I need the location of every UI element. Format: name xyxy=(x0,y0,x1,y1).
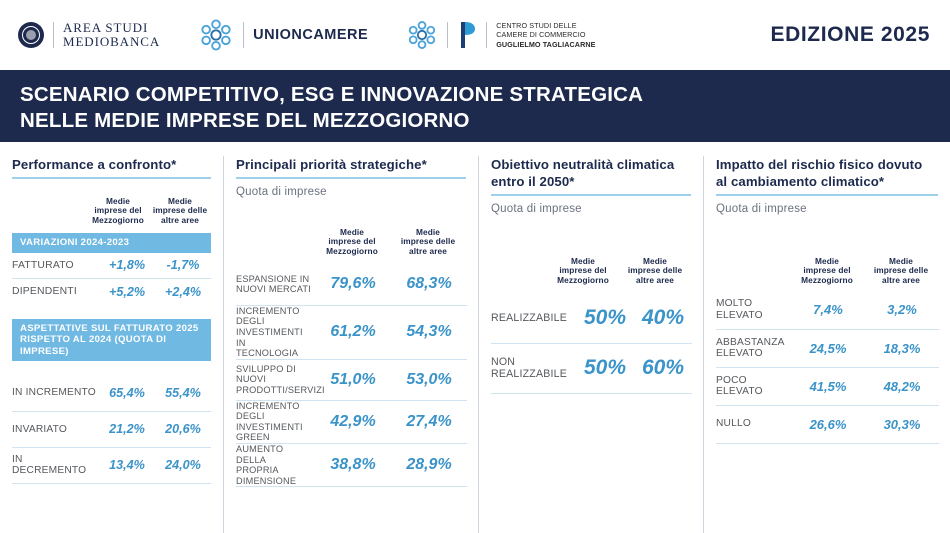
label-line: PRODOTTI/SERVIZI xyxy=(236,385,315,396)
divider xyxy=(53,22,54,48)
label-line: GREEN xyxy=(236,432,315,443)
header-line: altre aree xyxy=(619,276,691,285)
label-line: DIMENSIONE xyxy=(236,476,315,487)
divider xyxy=(243,22,244,48)
title-line-2: entro il 2050* xyxy=(491,173,691,190)
column-headers-neutralita: Medie imprese del Mezzogiorno Medie impr… xyxy=(491,257,691,285)
label-line: ABBASTANZA xyxy=(716,337,791,349)
tagliacarne-wordmark: CENTRO STUDI DELLE CAMERE DI COMMERCIO G… xyxy=(496,21,595,49)
label-line: TECNOLOGIA xyxy=(236,348,315,359)
label-line: AUMENTO DELLA xyxy=(236,444,315,465)
logo-unioncamere: UNIONCAMERE xyxy=(198,18,368,52)
value-altre: -1,7% xyxy=(155,253,211,279)
header-line: Mezzogiorno xyxy=(314,247,390,256)
header-altre-aree: Medie imprese delle altre aree xyxy=(390,228,466,256)
value-mezzogiorno: 50% xyxy=(576,293,634,343)
table-row: ABBASTANZA ELEVATO 24,5% 18,3% xyxy=(716,329,939,367)
label-line: INVESTIMENTI IN xyxy=(236,327,315,348)
title-line-1: Impatto del rischio fisico dovuto xyxy=(716,156,938,173)
table-row: MOLTO ELEVATO 7,4% 3,2% xyxy=(716,291,939,329)
spacer xyxy=(12,484,211,533)
value-altre: 3,2% xyxy=(865,291,939,329)
panel-subtitle-priorita: Quota di imprese xyxy=(236,186,466,198)
table-aspettative: IN INCREMENTO 65,4% 55,4% INVARIATO 21,2… xyxy=(12,375,211,484)
row-label: IN INCREMENTO xyxy=(12,375,99,411)
value-altre: 48,2% xyxy=(865,367,939,405)
value-altre: 20,6% xyxy=(155,411,211,447)
spacer xyxy=(716,444,938,533)
mediobanca-wordmark: AREA STUDI MEDIOBANCA xyxy=(63,21,160,50)
panel-neutralita-climatica: Obiettivo neutralità climatica entro il … xyxy=(478,156,703,533)
unioncamere-wordmark: UNIONCAMERE xyxy=(253,27,368,43)
value-mezzogiorno: 7,4% xyxy=(791,291,865,329)
divider xyxy=(486,22,487,48)
table-row: INCREMENTO DEGLI INVESTIMENTI IN TECNOLO… xyxy=(236,305,467,359)
value-altre: 55,4% xyxy=(155,375,211,411)
spacer xyxy=(236,488,466,533)
row-label: INCREMENTO DEGLI INVESTIMENTI IN TECNOLO… xyxy=(236,305,315,359)
label-line: DEGLI xyxy=(236,411,315,422)
header-line: Mezzogiorno xyxy=(547,276,619,285)
header-line: altre aree xyxy=(864,276,938,285)
table-row: REALIZZABILE 50% 40% xyxy=(491,293,692,343)
value-mezzogiorno: 79,6% xyxy=(315,264,391,305)
row-label: DIPENDENTI xyxy=(12,279,99,305)
label-line: ELEVATO xyxy=(716,310,791,322)
panel-title-priorita: Principali priorità strategiche* xyxy=(236,156,466,179)
label-line: ESPANSIONE IN xyxy=(236,274,315,285)
table-variazioni: FATTURATO +1,8% -1,7% DIPENDENTI +5,2% +… xyxy=(12,253,211,305)
table-row: DIPENDENTI +5,2% +2,4% xyxy=(12,279,211,305)
table-row: SVILUPPO DI NUOVI PRODOTTI/SERVIZI 51,0%… xyxy=(236,359,467,400)
panel-performance: Performance a confronto* Medie imprese d… xyxy=(0,156,223,533)
header-mezzogiorno: Medie imprese del Mezzogiorno xyxy=(547,257,619,285)
section-banner-aspettative: ASPETTATIVE SUL FATTURATO 2025 RISPETTO … xyxy=(12,319,211,362)
panel-subtitle-rischio: Quota di imprese xyxy=(716,203,938,215)
header-line: altre aree xyxy=(390,247,466,256)
value-mezzogiorno: 26,6% xyxy=(791,405,865,443)
column-headers-performance: Medie imprese del Mezzogiorno Medie impr… xyxy=(12,197,211,225)
value-mezzogiorno: 24,5% xyxy=(791,329,865,367)
row-label: INVARIATO xyxy=(12,411,99,447)
table-rischio: MOLTO ELEVATO 7,4% 3,2% ABBASTANZA ELEVA… xyxy=(716,291,939,444)
mediobanca-line2: MEDIOBANCA xyxy=(63,35,160,50)
label-line: ELEVATO xyxy=(716,386,791,398)
section-banner-variazioni: VARIAZIONI 2024-2023 xyxy=(12,233,211,253)
label-line: POCO xyxy=(716,375,791,387)
panel-title-rischio: Impatto del rischio fisico dovuto al cam… xyxy=(716,156,938,196)
header-mezzogiorno: Medie imprese del Mezzogiorno xyxy=(314,228,390,256)
value-mezzogiorno: 13,4% xyxy=(99,447,155,483)
table-row: ESPANSIONE IN NUOVI MERCATI 79,6% 68,3% xyxy=(236,264,467,305)
tagliacarne-line2: CAMERE DI COMMERCIO xyxy=(496,30,595,39)
row-label: NULLO xyxy=(716,405,791,443)
row-label: ESPANSIONE IN NUOVI MERCATI xyxy=(236,264,315,305)
label-line: PROPRIA xyxy=(236,465,315,476)
value-altre: 53,0% xyxy=(391,359,467,400)
header-mezzogiorno: Medie imprese del Mezzogiorno xyxy=(87,197,149,225)
row-label: MOLTO ELEVATO xyxy=(716,291,791,329)
value-mezzogiorno: 65,4% xyxy=(99,375,155,411)
tagliacarne-line1: CENTRO STUDI DELLE xyxy=(496,21,595,30)
value-mezzogiorno: 50% xyxy=(576,343,634,393)
panel-rischio-fisico: Impatto del rischio fisico dovuto al cam… xyxy=(703,156,950,533)
row-label: NON REALIZZABILE xyxy=(491,343,576,393)
value-altre: +2,4% xyxy=(155,279,211,305)
label-line: INCREMENTO DEGLI xyxy=(236,306,315,327)
unioncamere-knot-icon xyxy=(198,18,234,52)
row-label: IN DECREMENTO xyxy=(12,447,99,483)
table-row: AUMENTO DELLA PROPRIA DIMENSIONE 38,8% 2… xyxy=(236,444,467,487)
mediobanca-seal-icon xyxy=(18,22,44,48)
title-banner: SCENARIO COMPETITIVO, ESG E INNOVAZIONE … xyxy=(0,70,950,142)
row-label: ABBASTANZA ELEVATO xyxy=(716,329,791,367)
divider xyxy=(447,22,448,48)
label-line: REALIZZABILE xyxy=(491,312,576,324)
row-label: INCREMENTO DEGLI INVESTIMENTI GREEN xyxy=(236,400,315,443)
value-mezzogiorno: 21,2% xyxy=(99,411,155,447)
panel-subtitle-neutralita: Quota di imprese xyxy=(491,203,691,215)
logo-bar: AREA STUDI MEDIOBANCA UNIONCAMERE xyxy=(0,0,950,70)
header-altre-aree: Medie imprese delle altre aree xyxy=(619,257,691,285)
edition-label: EDIZIONE 2025 xyxy=(770,23,930,47)
panels-container: Performance a confronto* Medie imprese d… xyxy=(0,142,950,533)
table-row: POCO ELEVATO 41,5% 48,2% xyxy=(716,367,939,405)
header-line: Mezzogiorno xyxy=(87,216,149,225)
table-priorita: ESPANSIONE IN NUOVI MERCATI 79,6% 68,3% … xyxy=(236,264,467,488)
table-row: INVARIATO 21,2% 20,6% xyxy=(12,411,211,447)
table-row: IN DECREMENTO 13,4% 24,0% xyxy=(12,447,211,483)
label-line: INCREMENTO xyxy=(236,401,315,412)
value-mezzogiorno: 51,0% xyxy=(315,359,391,400)
row-label: REALIZZABILE xyxy=(491,293,576,343)
value-altre: 18,3% xyxy=(865,329,939,367)
value-mezzogiorno: +1,8% xyxy=(99,253,155,279)
header-altre-aree: Medie imprese delle altre aree xyxy=(864,257,938,285)
table-row: INCREMENTO DEGLI INVESTIMENTI GREEN 42,9… xyxy=(236,400,467,443)
value-mezzogiorno: 61,2% xyxy=(315,305,391,359)
panel-title-performance: Performance a confronto* xyxy=(12,156,211,179)
label-line: INVESTIMENTI xyxy=(236,422,315,433)
label-line: SVILUPPO DI xyxy=(236,364,315,375)
value-altre: 27,4% xyxy=(391,400,467,443)
mediobanca-line1: AREA STUDI xyxy=(63,21,160,36)
label-line: NON xyxy=(491,356,576,368)
banner-line-2: RISPETTO AL 2024 (QUOTA DI IMPRESE) xyxy=(20,334,203,357)
row-label: AUMENTO DELLA PROPRIA DIMENSIONE xyxy=(236,444,315,487)
panel-title-neutralita: Obiettivo neutralità climatica entro il … xyxy=(491,156,691,196)
logo-area-studi-mediobanca: AREA STUDI MEDIOBANCA xyxy=(18,21,160,50)
label-line: REALIZZABILE xyxy=(491,368,576,380)
table-row: FATTURATO +1,8% -1,7% xyxy=(12,253,211,279)
label-line: NUOVI MERCATI xyxy=(236,284,315,295)
column-headers-priorita: Medie imprese del Mezzogiorno Medie impr… xyxy=(236,228,466,256)
label-line: MOLTO xyxy=(716,298,791,310)
logo-centro-studi-tagliacarne: CENTRO STUDI DELLE CAMERE DI COMMERCIO G… xyxy=(406,19,595,51)
label-line: ELEVATO xyxy=(716,348,791,360)
label-line: NUOVI xyxy=(236,374,315,385)
header-line: Mezzogiorno xyxy=(790,276,864,285)
table-neutralita: REALIZZABILE 50% 40% NON REALIZZABILE 50… xyxy=(491,293,692,394)
title-line-1: SCENARIO COMPETITIVO, ESG E INNOVAZIONE … xyxy=(20,82,930,108)
tagliacarne-line3: GUGLIELMO TAGLIACARNE xyxy=(496,40,595,49)
value-altre: 68,3% xyxy=(391,264,467,305)
value-altre: 28,9% xyxy=(391,444,467,487)
title-line-1: Obiettivo neutralità climatica xyxy=(491,156,691,173)
value-altre: 24,0% xyxy=(155,447,211,483)
value-mezzogiorno: 42,9% xyxy=(315,400,391,443)
row-label: POCO ELEVATO xyxy=(716,367,791,405)
value-altre: 40% xyxy=(634,293,692,343)
value-altre: 54,3% xyxy=(391,305,467,359)
row-label: FATTURATO xyxy=(12,253,99,279)
value-altre: 60% xyxy=(634,343,692,393)
value-mezzogiorno: +5,2% xyxy=(99,279,155,305)
value-mezzogiorno: 41,5% xyxy=(791,367,865,405)
table-row: NON REALIZZABILE 50% 60% xyxy=(491,343,692,393)
table-row: NULLO 26,6% 30,3% xyxy=(716,405,939,443)
header-mezzogiorno: Medie imprese del Mezzogiorno xyxy=(790,257,864,285)
value-mezzogiorno: 38,8% xyxy=(315,444,391,487)
column-headers-rischio: Medie imprese del Mezzogiorno Medie impr… xyxy=(716,257,938,285)
header-altre-aree: Medie imprese delle altre aree xyxy=(149,197,211,225)
header-line: altre aree xyxy=(149,216,211,225)
title-line-2: al cambiamento climatico* xyxy=(716,173,938,190)
value-altre: 30,3% xyxy=(865,405,939,443)
banner-line-1: ASPETTATIVE SUL FATTURATO 2025 xyxy=(20,323,203,335)
row-label: SVILUPPO DI NUOVI PRODOTTI/SERVIZI xyxy=(236,359,315,400)
unioncamere-knot-icon-small xyxy=(406,19,438,51)
label-line: NULLO xyxy=(716,418,791,430)
title-line-2: NELLE MEDIE IMPRESE DEL MEZZOGIORNO xyxy=(20,108,930,134)
spacer xyxy=(491,394,691,533)
table-row: IN INCREMENTO 65,4% 55,4% xyxy=(12,375,211,411)
panel-priorita-strategiche: Principali priorità strategiche* Quota d… xyxy=(223,156,478,533)
tagliacarne-flag-icon xyxy=(457,20,477,50)
